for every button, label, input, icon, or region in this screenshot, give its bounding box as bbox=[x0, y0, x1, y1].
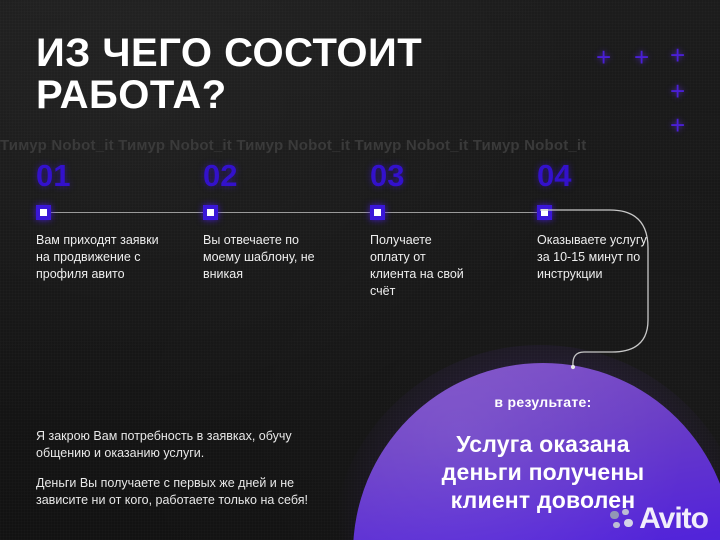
avito-logo: Avito bbox=[609, 504, 708, 534]
step-description: Получаете оплату от клиента на свой счёт bbox=[370, 232, 522, 300]
step-description: Вам приходят заявки на продвижение с про… bbox=[36, 232, 188, 283]
watermark-strip: Тимур Nobot_it Тимур Nobot_it Тимур Nobo… bbox=[0, 137, 720, 154]
step-marker-icon bbox=[370, 205, 385, 220]
plus-icon-2: + bbox=[634, 44, 649, 70]
timeline-step-02: 02Вы отвечаете по моему шаблону, не вник… bbox=[203, 160, 363, 191]
step-description: Оказываете услугу за 10-15 минут по инст… bbox=[537, 232, 689, 283]
bottom-text-block: Я закрою Вам потребность в заявках, обуч… bbox=[36, 428, 366, 522]
step-number: 03 bbox=[370, 160, 530, 191]
timeline-step-01: 01Вам приходят заявки на продвижение с п… bbox=[36, 160, 196, 191]
step-marker-icon bbox=[36, 205, 51, 220]
step-number: 04 bbox=[537, 160, 697, 191]
step-description: Вы отвечаете по моему шаблону, не вникая bbox=[203, 232, 355, 283]
avito-wordmark: Avito bbox=[639, 504, 708, 534]
bottom-paragraph-2: Деньги Вы получаете с первых же дней и н… bbox=[36, 475, 366, 508]
step-number: 02 bbox=[203, 160, 363, 191]
timeline-connector-line bbox=[44, 212, 550, 213]
plus-icon-3: + bbox=[670, 42, 685, 68]
step-marker-icon bbox=[203, 205, 218, 220]
result-label: в результате: bbox=[353, 394, 720, 410]
plus-icon-4: + bbox=[670, 78, 685, 104]
timeline-step-04: 04Оказываете услугу за 10-15 минут по ин… bbox=[537, 160, 697, 191]
bottom-paragraph-1: Я закрою Вам потребность в заявках, обуч… bbox=[36, 428, 366, 461]
step-number: 01 bbox=[36, 160, 196, 191]
avito-dot-3 bbox=[613, 522, 620, 529]
timeline: 01Вам приходят заявки на продвижение с п… bbox=[0, 160, 720, 360]
page-title: ИЗ ЧЕГО СОСТОИТ РАБОТА? bbox=[36, 32, 556, 116]
avito-dot-1 bbox=[610, 511, 619, 520]
avito-dot-2 bbox=[622, 509, 629, 516]
step-marker-icon bbox=[537, 205, 552, 220]
plus-icon-5: + bbox=[670, 112, 685, 138]
slide-canvas: ИЗ ЧЕГО СОСТОИТ РАБОТА? +++++ Тимур Nobo… bbox=[0, 0, 720, 540]
avito-dot-4 bbox=[624, 519, 633, 528]
timeline-step-03: 03Получаете оплату от клиента на свой сч… bbox=[370, 160, 530, 191]
plus-icon-1: + bbox=[596, 44, 611, 70]
avito-mark-icon bbox=[609, 508, 635, 530]
